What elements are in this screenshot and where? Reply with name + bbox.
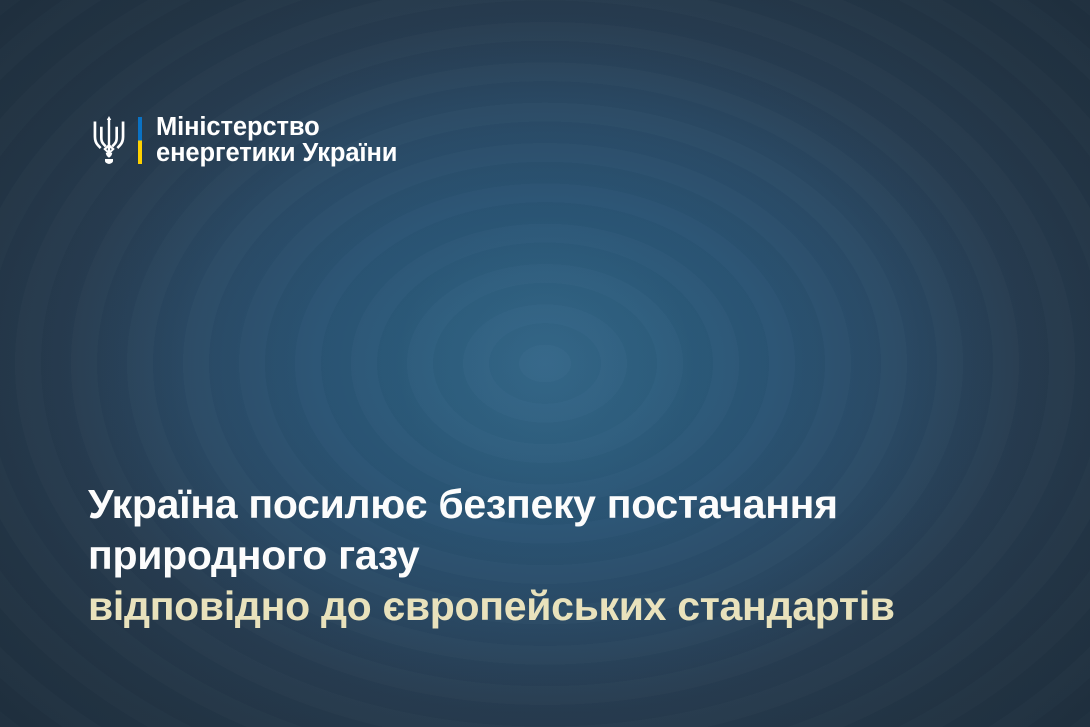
announcement-poster: Міністерство енергетики України Україна … xyxy=(0,0,1090,727)
headline-line-1: Україна посилює безпеку постачання xyxy=(88,479,1048,530)
ministry-logo[interactable]: Міністерство енергетики України xyxy=(92,114,397,166)
headline-line-3: відповідно до європейських стандартів xyxy=(88,581,1048,632)
ukraine-trident-icon xyxy=(92,116,126,164)
ukraine-flag-bar-icon xyxy=(138,117,142,164)
page-title: Україна посилює безпеку постачання приро… xyxy=(88,479,1048,632)
headline-line-2: природного газу xyxy=(88,530,1048,581)
ministry-logo-text: Міністерство енергетики України xyxy=(156,114,397,166)
ministry-logo-line-2: енергетики України xyxy=(156,140,397,166)
ministry-logo-line-1: Міністерство xyxy=(156,114,397,140)
